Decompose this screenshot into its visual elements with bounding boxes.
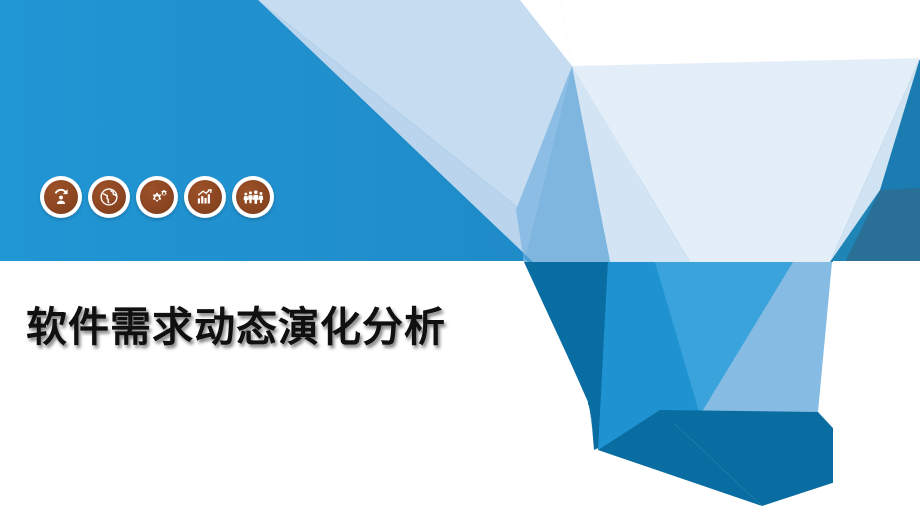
refresh-people-icon[interactable] [40, 176, 82, 218]
people-group-icon[interactable] [232, 176, 274, 218]
globe-icon[interactable] [88, 176, 130, 218]
bar-chart-icon[interactable] [184, 176, 226, 218]
polygon-background-art [0, 0, 920, 518]
page-title: 软件需求动态演化分析 [26, 293, 446, 353]
bar-chart-icon-disc [188, 180, 222, 214]
people-group-icon-disc [236, 180, 270, 214]
refresh-people-icon-disc [44, 180, 78, 214]
globe-icon-disc [92, 180, 126, 214]
gears-icon-disc [140, 180, 174, 214]
tagline-text: 数智创新 变革未来 [700, 26, 900, 60]
gears-icon[interactable] [136, 176, 178, 218]
white-lower-right [833, 261, 920, 518]
title-slide: 数智创新 变革未来 [0, 0, 920, 518]
icon-row [40, 176, 274, 218]
